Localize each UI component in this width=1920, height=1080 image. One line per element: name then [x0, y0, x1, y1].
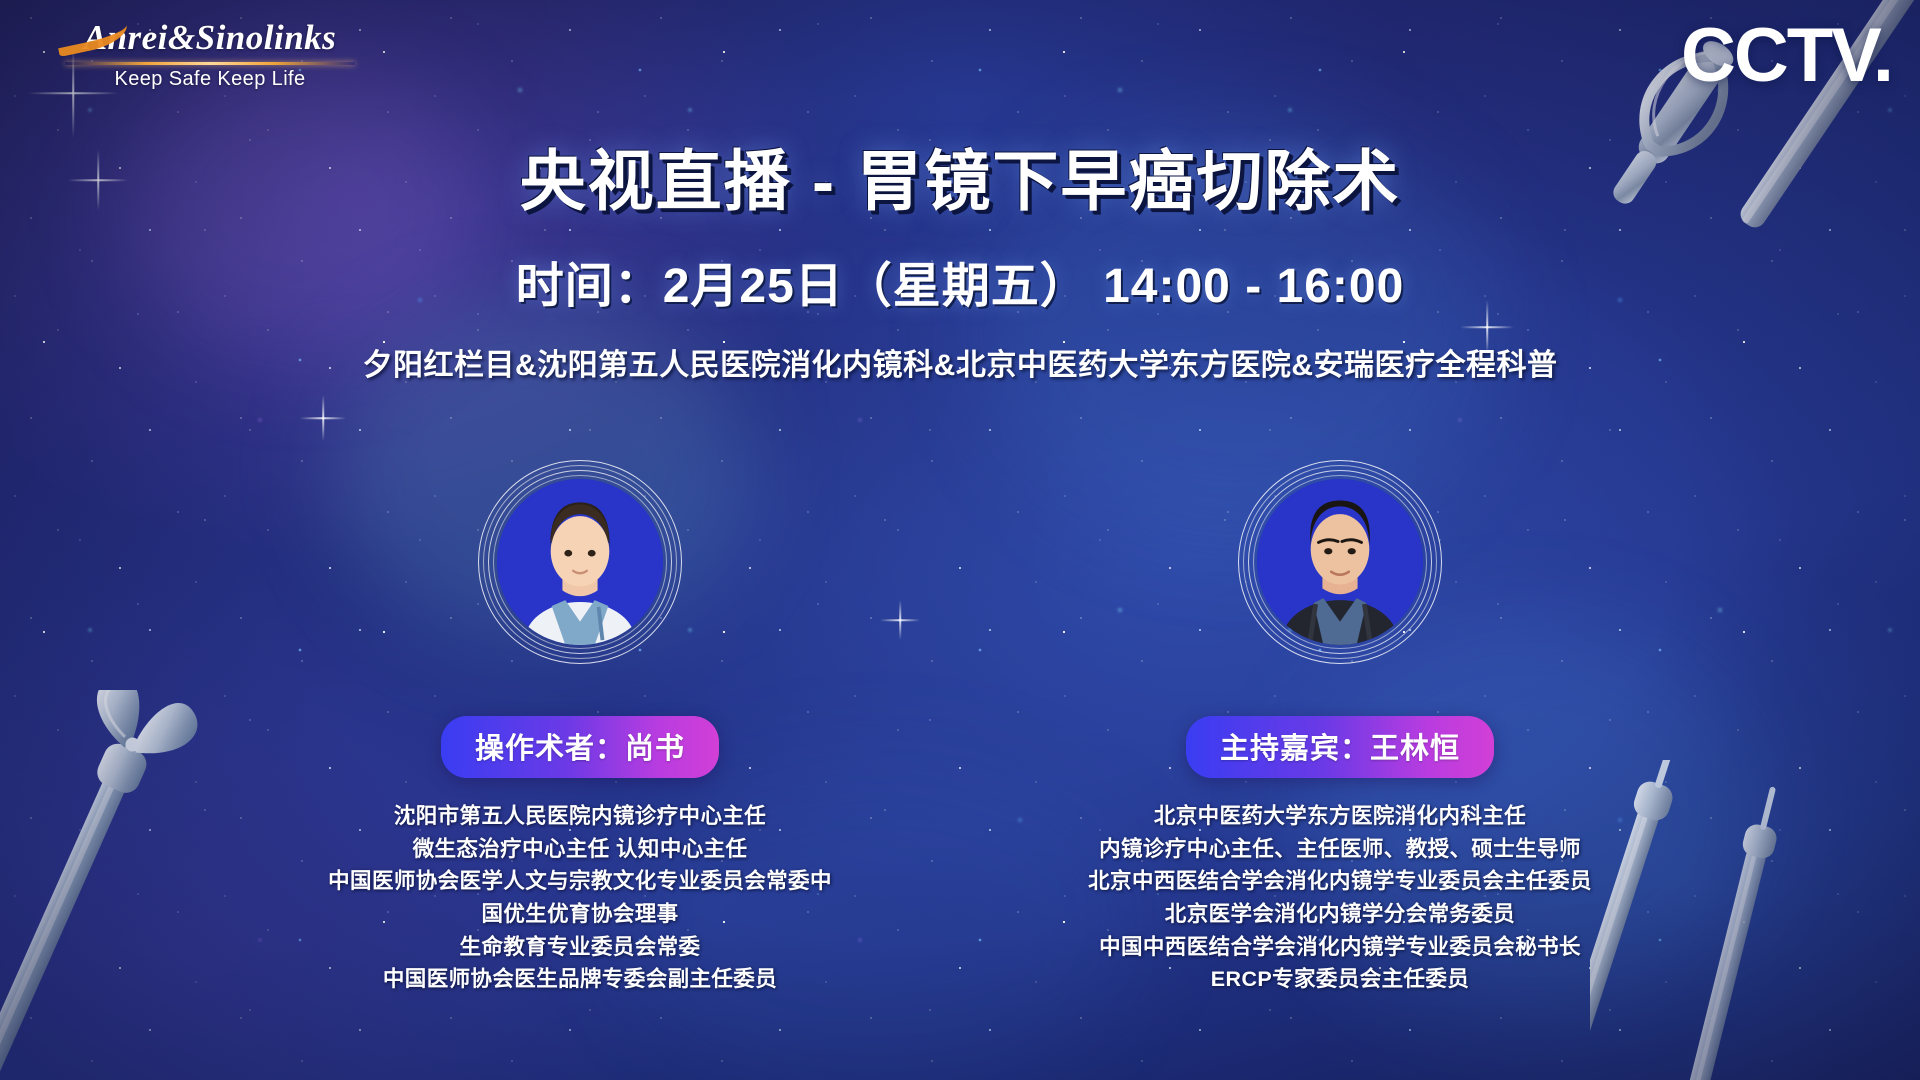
credentials-list-operator: 沈阳市第五人民医院内镜诊疗中心主任 微生态治疗中心主任 认知中心主任 中国医师协… — [200, 800, 960, 996]
logo-divider — [65, 62, 355, 65]
broadcast-time: 时间：2月25日（星期五） 14:00 - 16:00 — [0, 246, 1920, 316]
list-item: 内镜诊疗中心主任、主任医师、教授、硕士生导师 — [960, 833, 1720, 866]
credentials-list-host: 北京中医药大学东方医院消化内科主任 内镜诊疗中心主任、主任医师、教授、硕士生导师… — [960, 800, 1720, 996]
page-title: 央视直播 - 胃镜下早癌切除术 — [0, 128, 1920, 224]
list-item: 北京医学会消化内镜学分会常务委员 — [960, 898, 1720, 931]
sponsor-logo-name: Anrei&Sinolinks — [60, 18, 360, 58]
live-broadcast-poster: Anrei&Sinolinks Keep Safe Keep Life CCTV… — [0, 0, 1920, 1080]
list-item: 中国医师协会医生品牌专委会副主任委员 — [200, 963, 960, 996]
list-item: 中国中西医结合学会消化内镜学专业委员会秘书长 — [960, 931, 1720, 964]
speakers-section: 操作术者：尚书 沈阳市第五人民医院内镜诊疗中心主任 微生态治疗中心主任 认知中心… — [0, 460, 1920, 996]
avatar-photo-host — [1257, 479, 1423, 645]
cctv-logo: CCTV. — [1681, 12, 1892, 99]
status-badge-operator: 操作术者：尚书 — [441, 716, 719, 778]
list-item: 国优生优育协会理事 — [200, 898, 960, 931]
sparkle-icon — [300, 395, 346, 441]
list-item: 沈阳市第五人民医院内镜诊疗中心主任 — [200, 800, 960, 833]
avatar — [1238, 460, 1442, 664]
list-item: 微生态治疗中心主任 认知中心主任 — [200, 833, 960, 866]
avatar — [478, 460, 682, 664]
title-block: 央视直播 - 胃镜下早癌切除术 时间：2月25日（星期五） 14:00 - 16… — [0, 128, 1920, 384]
sponsor-logo: Anrei&Sinolinks Keep Safe Keep Life — [60, 18, 360, 91]
status-badge-host: 主持嘉宾：王林恒 — [1186, 716, 1494, 778]
list-item: 中国医师协会医学人文与宗教文化专业委员会常委中 — [200, 865, 960, 898]
list-item: 生命教育专业委员会常委 — [200, 931, 960, 964]
speaker-card-host: 主持嘉宾：王林恒 北京中医药大学东方医院消化内科主任 内镜诊疗中心主任、主任医师… — [960, 460, 1720, 996]
avatar-photo-operator — [497, 479, 663, 645]
partner-organizations: 夕阳红栏目&沈阳第五人民医院消化内镜科&北京中医药大学东方医院&安瑞医疗全程科普 — [0, 340, 1920, 384]
list-item: 北京中医药大学东方医院消化内科主任 — [960, 800, 1720, 833]
speaker-card-operator: 操作术者：尚书 沈阳市第五人民医院内镜诊疗中心主任 微生态治疗中心主任 认知中心… — [200, 460, 960, 996]
list-item: ERCP专家委员会主任委员 — [960, 963, 1720, 996]
list-item: 北京中西医结合学会消化内镜学专业委员会主任委员 — [960, 865, 1720, 898]
sponsor-logo-tagline: Keep Safe Keep Life — [60, 68, 360, 91]
